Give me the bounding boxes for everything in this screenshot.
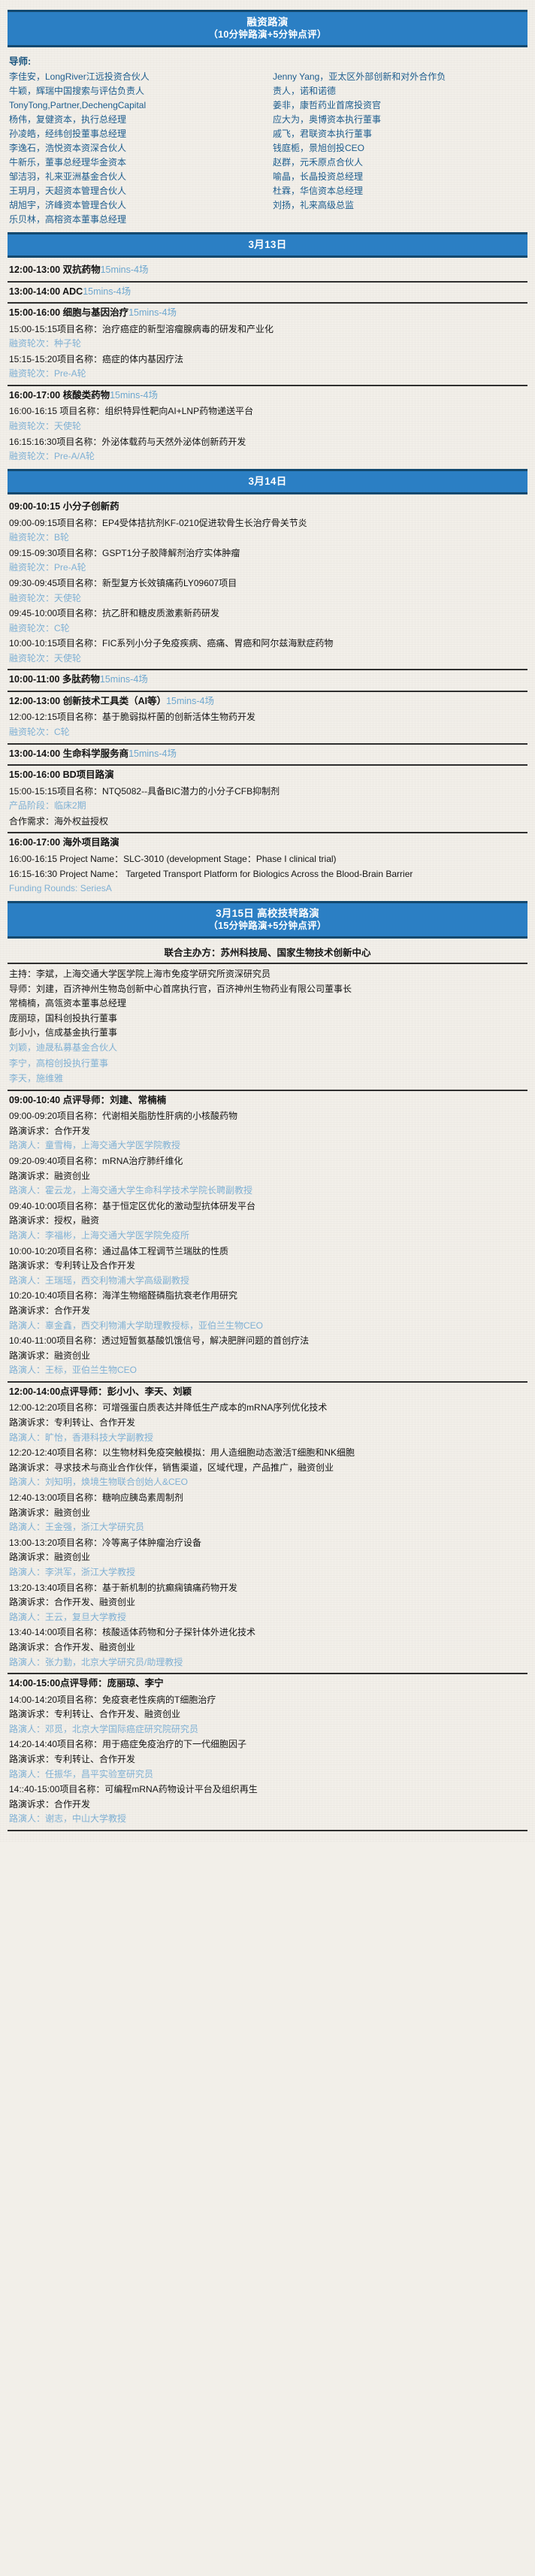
divider	[8, 743, 527, 745]
mentor-item: 孙凌皓，经纬创投董事总经理	[8, 127, 264, 141]
project-line: 10:00-10:20项目名称：通过晶体工程调节兰瑞肽的性质	[9, 1244, 527, 1259]
schedule-page: 融资路演 （10分钟路演+5分钟点评） 导师: 李佳安，LongRiver江远投…	[0, 0, 535, 1842]
mentor-item: TonyTong,Partner,DechengCapital	[8, 98, 264, 113]
mentor-item: 牛新乐，董事总经理华金资本	[8, 156, 264, 170]
divider	[8, 832, 527, 833]
project-line: 09:40-10:00项目名称：基于恒定区优化的激动型抗体研发平台	[9, 1199, 527, 1214]
mentor-item: 李佳安，LongRiver江远投资合伙人	[8, 70, 264, 84]
project-meta: 融资轮次：Pre-A/A轮	[9, 449, 527, 464]
project-line: 16:15:16:30项目名称：外泌体载药与天然外泌体创新药开发	[9, 435, 527, 449]
divider	[8, 1090, 527, 1091]
host-line: 主持：李斌，上海交通大学医学院上海市免疫学研究所资深研究员	[9, 967, 527, 981]
project-line: 13:00-13:20项目名称：冷等离子体肿瘤治疗设备	[9, 1536, 527, 1550]
project-need: 路演诉求：专利转让、合作开发、融资创业	[9, 1707, 527, 1722]
divider	[8, 691, 527, 692]
banner-mar15-title: 3月15日 高校技转路演	[11, 907, 524, 920]
divider	[8, 385, 527, 386]
project-need: 路演诉求：合作开发	[9, 1124, 527, 1138]
project-line: 14:00-14:20项目名称：免疫衰老性疾病的T细胞治疗	[9, 1693, 527, 1707]
divider	[8, 764, 527, 766]
project-extra: 合作需求：海外权益授权	[9, 815, 527, 829]
project-presenter: 路演人：王瑞瑶，西交利物浦大学高级副教授	[9, 1274, 527, 1288]
project-need: 路演诉求：融资创业	[9, 1349, 527, 1363]
session-header: 13:00-14:00 生命科学服务商15mins-4场	[9, 748, 527, 761]
project-presenter: 路演人：童雪梅，上海交通大学医学院教授	[9, 1138, 527, 1153]
mar15-block-list: 09:00-10:40 点评导师：刘建、常楠楠09:00-09:20项目名称：代…	[8, 1090, 527, 1826]
project-meta: 融资轮次：Pre-A轮	[9, 561, 527, 575]
project-line: 16:15-16:30 Project Name： Targeted Trans…	[9, 867, 527, 881]
mar14-session-list: 09:00-10:15 小分子创新药09:00-09:15项目名称：EP4受体拮…	[8, 500, 527, 896]
project-meta: 融资轮次：天使轮	[9, 419, 527, 434]
mentors-grid: 李佳安，LongRiver江远投资合伙人 牛颖，辉瑞中国搜索与评估负责人 Ton…	[8, 70, 527, 226]
host-line: 李宁，高榕创投执行董事	[9, 1057, 527, 1071]
project-line: 09:00-09:15项目名称：EP4受体拮抗剂KF-0210促进软骨生长治疗骨…	[9, 516, 527, 531]
project-need: 路演诉求：专利转让、合作开发	[9, 1416, 527, 1430]
cohost-line: 联合主办方：苏州科技局、国家生物技术创新中心	[8, 945, 527, 959]
host-line: 刘颖，迪晟私募基金合伙人	[9, 1041, 527, 1055]
project-need: 路演诉求：融资创业	[9, 1506, 527, 1520]
project-need: 路演诉求：合作开发、融资创业	[9, 1595, 527, 1610]
host-line: 导师：刘建，百济神州生物岛创新中心首席执行官，百济神州生物药业有限公司董事长	[9, 982, 527, 996]
mentor-item: 李逸石，浩悦资本资深合伙人	[8, 141, 264, 156]
banner-mar14: 3月14日	[8, 469, 527, 494]
session-header: 12:00-13:00 创新技术工具类（AI等）15mins-4场	[9, 695, 527, 709]
session-header: 10:00-11:00 多肽药物15mins-4场	[9, 673, 527, 687]
session-duration: 15mins-4场	[110, 390, 158, 401]
session-duration: 15mins-4场	[128, 307, 177, 318]
banner-roadshow: 融资路演 （10分钟路演+5分钟点评）	[8, 10, 527, 47]
host-line: 庞丽琼，国科创投执行董事	[9, 1011, 527, 1026]
mentor-item: Jenny Yang，亚太区外部创新和对外合作负	[271, 70, 527, 84]
project-line: 09:45-10:00项目名称：抗乙肝和糖皮质激素新药研发	[9, 606, 527, 621]
project-need: 路演诉求：融资创业	[9, 1169, 527, 1184]
project-line: 12:00-12:15项目名称：基于脆弱拟杆菌的创新活体生物药开发	[9, 710, 527, 724]
mentor-item: 戚飞，君联资本执行董事	[271, 127, 527, 141]
banner-mar13: 3月13日	[8, 232, 527, 258]
project-line: 09:15-09:30项目名称：GSPT1分子胶降解剂治疗实体肿瘤	[9, 546, 527, 561]
project-line: 09:20-09:40项目名称：mRNA治疗肺纤维化	[9, 1154, 527, 1169]
project-need: 路演诉求：专利转让、合作开发	[9, 1752, 527, 1767]
project-line: 15:00-15:15项目名称：治疗癌症的新型溶瘤腺病毒的研发和产业化	[9, 322, 527, 337]
session-duration: 15mins-4场	[128, 748, 177, 759]
project-need: 路演诉求：合作开发、融资创业	[9, 1640, 527, 1655]
project-presenter: 路演人：霍云龙，上海交通大学生命科学技术学院长聘副教授	[9, 1184, 527, 1198]
divider	[8, 669, 527, 670]
session-header: 12:00-13:00 双抗药物15mins-4场	[9, 264, 527, 277]
project-line: 10:00-10:15项目名称：FIC系列小分子免疫疾病、癌痛、胃癌和阿尔兹海默…	[9, 636, 527, 651]
mentor-item: 刘扬，礼来高级总监	[271, 198, 527, 213]
mar13-session-list: 12:00-13:00 双抗药物15mins-4场13:00-14:00 ADC…	[8, 264, 527, 464]
mentor-item: 邹洁羽，礼来亚洲基金合伙人	[8, 170, 264, 184]
project-presenter: 路演人：刘知明，焕境生物联合创始人&CEO	[9, 1475, 527, 1489]
divider	[8, 1830, 527, 1831]
project-meta: Funding Rounds: SeriesA	[9, 881, 527, 896]
project-line: 16:00-16:15 项目名称：组织特异性靶向AI+LNP药物递送平台	[9, 404, 527, 419]
block-header: 12:00-14:00点评导师：彭小小、李天、刘颖	[9, 1386, 527, 1399]
session-duration: 15mins-4场	[83, 286, 131, 297]
session-header: 16:00-17:00 海外项目路演	[9, 836, 527, 850]
project-meta: 产品阶段：临床2期	[9, 799, 527, 813]
project-line: 12:40-13:00项目名称：糖响应胰岛素周制剂	[9, 1491, 527, 1505]
project-need: 路演诉求：授权，融资	[9, 1214, 527, 1228]
project-line: 12:20-12:40项目名称：以生物材料免疫突触模拟：用人造细胞动态激活T细胞…	[9, 1446, 527, 1460]
project-line: 13:40-14:00项目名称：核酸适体药物和分子探针体外进化技术	[9, 1625, 527, 1640]
divider	[8, 963, 527, 964]
project-meta: 融资轮次：C轮	[9, 725, 527, 739]
project-meta: 融资轮次：种子轮	[9, 337, 527, 351]
host-line: 李天，施维雅	[9, 1072, 527, 1086]
divider	[8, 1381, 527, 1383]
project-line: 12:00-12:20项目名称：可增强蛋白质表达并降低生产成本的mRNA序列优化…	[9, 1401, 527, 1415]
project-line: 16:00-16:15 Project Name：SLC-3010 (devel…	[9, 852, 527, 866]
mentor-item: 王玥月，天超资本管理合伙人	[8, 184, 264, 198]
project-presenter: 路演人：邓觅，北京大学国际癌症研究院研究员	[9, 1722, 527, 1737]
project-meta: 融资轮次：B轮	[9, 531, 527, 545]
project-need: 路演诉求：寻求技术与商业合作伙伴，销售渠道，区域代理，产品推广，融资创业	[9, 1461, 527, 1475]
block-header: 09:00-10:40 点评导师：刘建、常楠楠	[9, 1094, 527, 1108]
project-presenter: 路演人：旷怡，香港科技大学副教授	[9, 1431, 527, 1445]
session-header: 09:00-10:15 小分子创新药	[9, 500, 527, 514]
project-presenter: 路演人：任振华，昌平实验室研究员	[9, 1767, 527, 1782]
banner-roadshow-title: 融资路演	[11, 16, 524, 29]
mentor-item: 赵群，元禾原点合伙人	[271, 156, 527, 170]
project-line: 10:20-10:40项目名称：海洋生物缩醛磷脂抗衰老作用研究	[9, 1289, 527, 1303]
block-header: 14:00-15:00点评导师：庞丽琼、李宁	[9, 1677, 527, 1691]
project-meta: 融资轮次：天使轮	[9, 652, 527, 666]
session-duration: 15mins-4场	[100, 674, 148, 685]
mentor-item: 姜非，康哲药业首席投资官	[271, 98, 527, 113]
mentors-label: 导师:	[9, 53, 527, 68]
project-meta: 融资轮次：C轮	[9, 621, 527, 636]
project-line: 09:30-09:45项目名称：新型复方长效镇痛药LY09607项目	[9, 576, 527, 591]
session-duration: 15mins-4场	[101, 265, 149, 275]
session-header: 16:00-17:00 核酸类药物15mins-4场	[9, 389, 527, 403]
mentors-column-right: Jenny Yang，亚太区外部创新和对外合作负 责人，诺和诺德 姜非，康哲药业…	[271, 70, 527, 226]
host-line: 常楠楠，高瓴资本董事总经理	[9, 996, 527, 1011]
project-line: 10:40-11:00项目名称：透过短暂氨基酸饥饿信号，解决肥胖问题的首创疗法	[9, 1334, 527, 1348]
project-line: 13:20-13:40项目名称：基于新机制的抗癫痫镇痛药物开发	[9, 1581, 527, 1595]
project-presenter: 路演人：谢志，中山大学教授	[9, 1812, 527, 1826]
mentor-item: 牛颖，辉瑞中国搜索与评估负责人	[8, 84, 264, 98]
project-need: 路演诉求：合作开发	[9, 1304, 527, 1318]
mentor-item: 杜霖，华信资本总经理	[271, 184, 527, 198]
banner-mar14-title: 3月14日	[11, 475, 524, 488]
mentor-item: 胡旭宇，济峰资本管理合伙人	[8, 198, 264, 213]
mentor-item: 杨伟，复健资本，执行总经理	[8, 113, 264, 127]
session-duration: 15mins-4场	[166, 696, 214, 706]
project-need: 路演诉求：融资创业	[9, 1550, 527, 1565]
banner-mar13-title: 3月13日	[11, 238, 524, 251]
project-need: 路演诉求：专利转让及合作开发	[9, 1259, 527, 1273]
project-need: 路演诉求：合作开发	[9, 1797, 527, 1812]
host-line: 彭小小，信成基金执行董事	[9, 1026, 527, 1040]
project-meta: 融资轮次：Pre-A轮	[9, 367, 527, 381]
mentor-item: 钱庭栀，景旭创投CEO	[271, 141, 527, 156]
project-line: 14::40-15:00项目名称：可编程mRNA药物设计平台及组织再生	[9, 1782, 527, 1797]
project-presenter: 路演人：王云，复旦大学教授	[9, 1610, 527, 1625]
project-presenter: 路演人：辜金鑫，西交利物浦大学助理教授标，亚伯兰生物CEO	[9, 1319, 527, 1333]
project-line: 14:20-14:40项目名称：用于癌症免疫治疗的下一代细胞因子	[9, 1737, 527, 1752]
mentor-item: 应大为，奥博资本执行董事	[271, 113, 527, 127]
banner-roadshow-subtitle: （10分钟路演+5分钟点评）	[11, 29, 524, 41]
mar15-host-list: 主持：李斌，上海交通大学医学院上海市免疫学研究所资深研究员导师：刘建，百济神州生…	[8, 967, 527, 1086]
project-line: 15:00-15:15项目名称：NTQ5082--具备BIC潜力的小分子CFB抑…	[9, 785, 527, 799]
session-header: 13:00-14:00 ADC15mins-4场	[9, 286, 527, 299]
project-presenter: 路演人：王金强，浙江大学研究员	[9, 1520, 527, 1534]
mentor-item: 责人，诺和诺德	[271, 84, 527, 98]
mentor-item: 喻晶，长晶投资总经理	[271, 170, 527, 184]
project-line: 09:00-09:20项目名称：代谢相关脂肪性肝病的小核酸药物	[9, 1109, 527, 1123]
divider	[8, 281, 527, 283]
session-header: 15:00-16:00 细胞与基因治疗15mins-4场	[9, 307, 527, 320]
project-presenter: 路演人：李福彬，上海交通大学医学院免疫所	[9, 1229, 527, 1243]
session-header: 15:00-16:00 BD项目路演	[9, 769, 527, 782]
project-line: 15:15-15:20项目名称：癌症的体内基因疗法	[9, 352, 527, 367]
mentor-item: 乐贝林，高榕资本董事总经理	[8, 213, 264, 227]
project-presenter: 路演人：李洪军，浙江大学教授	[9, 1565, 527, 1580]
banner-mar15: 3月15日 高校技转路演 （15分钟路演+5分钟点评）	[8, 901, 527, 939]
banner-mar15-subtitle: （15分钟路演+5分钟点评）	[11, 920, 524, 932]
mentors-column-left: 李佳安，LongRiver江远投资合伙人 牛颖，辉瑞中国搜索与评估负责人 Ton…	[8, 70, 264, 226]
project-presenter: 路演人：王标，亚伯兰生物CEO	[9, 1363, 527, 1377]
divider	[8, 302, 527, 304]
project-meta: 融资轮次：天使轮	[9, 591, 527, 606]
divider	[8, 1673, 527, 1674]
project-presenter: 路演人：张力勤，北京大学研究员/助理教授	[9, 1655, 527, 1670]
